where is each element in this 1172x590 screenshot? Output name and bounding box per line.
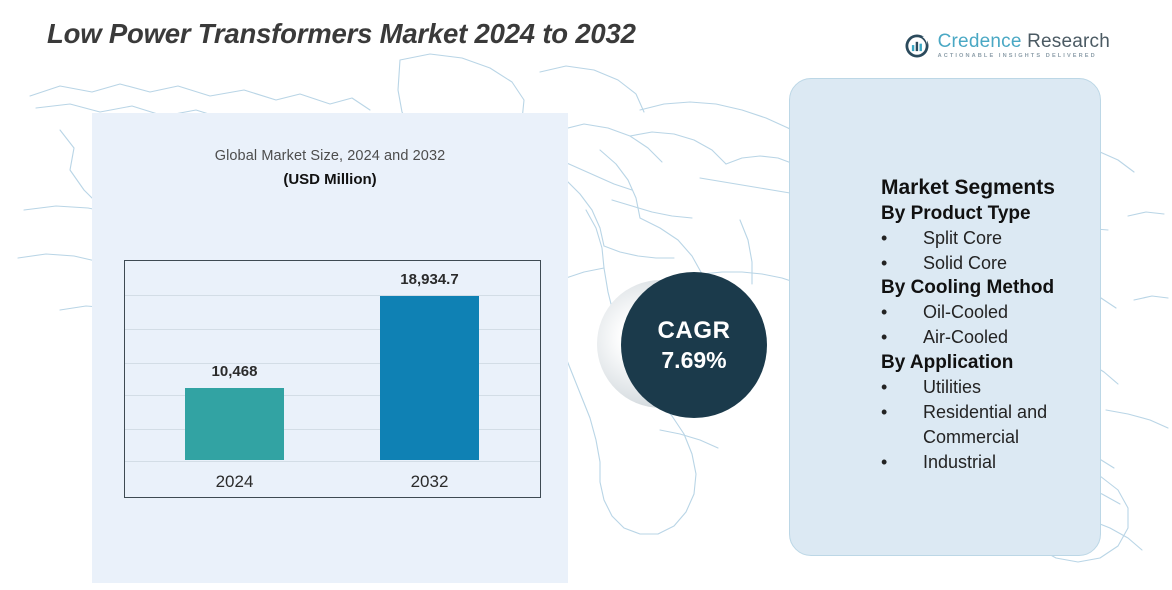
bullet-icon: • (881, 375, 923, 400)
bar-chart: 10,468 2024 18,934.7 2032 (124, 260, 541, 498)
segment-item-label: Split Core (923, 226, 1084, 251)
segment-item-residential-and-commercial: • Residential and Commercial (881, 400, 1084, 450)
bar-rect-2032 (380, 296, 479, 460)
page-title: Low Power Transformers Market 2024 to 20… (47, 18, 636, 50)
bar-label-2024: 2024 (216, 472, 254, 492)
segment-item-label: Residential and Commercial (923, 400, 1084, 450)
bullet-icon: • (881, 251, 923, 276)
chart-plot-area: 10,468 2024 18,934.7 2032 (125, 261, 540, 497)
segment-item-split-core: • Split Core (881, 226, 1084, 251)
bar-2024: 10,468 2024 (185, 388, 284, 460)
bullet-icon: • (881, 226, 923, 251)
segment-item-label: Solid Core (923, 251, 1084, 276)
bullet-icon: • (881, 300, 923, 325)
cagr-value: 7.69% (661, 347, 726, 374)
bullet-icon: • (881, 400, 923, 425)
brand-tagline: Actionable Insights Delivered (938, 54, 1110, 60)
cagr-circle: CAGR 7.69% (621, 272, 767, 418)
segment-item-label: Air-Cooled (923, 325, 1084, 350)
bar-chart-circle-logo-icon (904, 33, 930, 59)
segments-title: Market Segments (881, 175, 1084, 201)
chart-caption: Global Market Size, 2024 and 2032 (USD M… (92, 148, 568, 188)
segment-item-utilities: • Utilities (881, 375, 1084, 400)
bar-value-2032: 18,934.7 (400, 271, 458, 288)
segment-group-heading-cooling-method: By Cooling Method (881, 275, 1084, 300)
segment-item-label: Utilities (923, 375, 1084, 400)
segment-group-heading-product-type: By Product Type (881, 201, 1084, 226)
chart-caption-line2: (USD Million) (92, 171, 568, 188)
segment-group-heading-application: By Application (881, 350, 1084, 375)
cagr-label: CAGR (657, 317, 730, 345)
segment-item-air-cooled: • Air-Cooled (881, 325, 1084, 350)
segment-item-label: Industrial (923, 450, 1084, 475)
segment-item-oil-cooled: • Oil-Cooled (881, 300, 1084, 325)
brand-name-secondary: Research (1027, 31, 1110, 52)
segment-item-solid-core: • Solid Core (881, 251, 1084, 276)
brand-name-primary: Credence (938, 31, 1027, 52)
bullet-icon: • (881, 450, 923, 475)
bar-rect-2024 (185, 388, 284, 460)
bar-label-2032: 2032 (411, 472, 449, 492)
segment-item-label: Oil-Cooled (923, 300, 1084, 325)
market-segments-panel: Market Segments By Product Type • Split … (789, 78, 1101, 556)
bullet-icon: • (881, 325, 923, 350)
bar-value-2024: 10,468 (212, 363, 258, 380)
brand-logo: Credence Research Actionable Insights De… (904, 32, 1110, 60)
chart-caption-line1: Global Market Size, 2024 and 2032 (92, 148, 568, 164)
segment-item-industrial: • Industrial (881, 450, 1084, 475)
bar-2032: 18,934.7 2032 (380, 296, 479, 460)
